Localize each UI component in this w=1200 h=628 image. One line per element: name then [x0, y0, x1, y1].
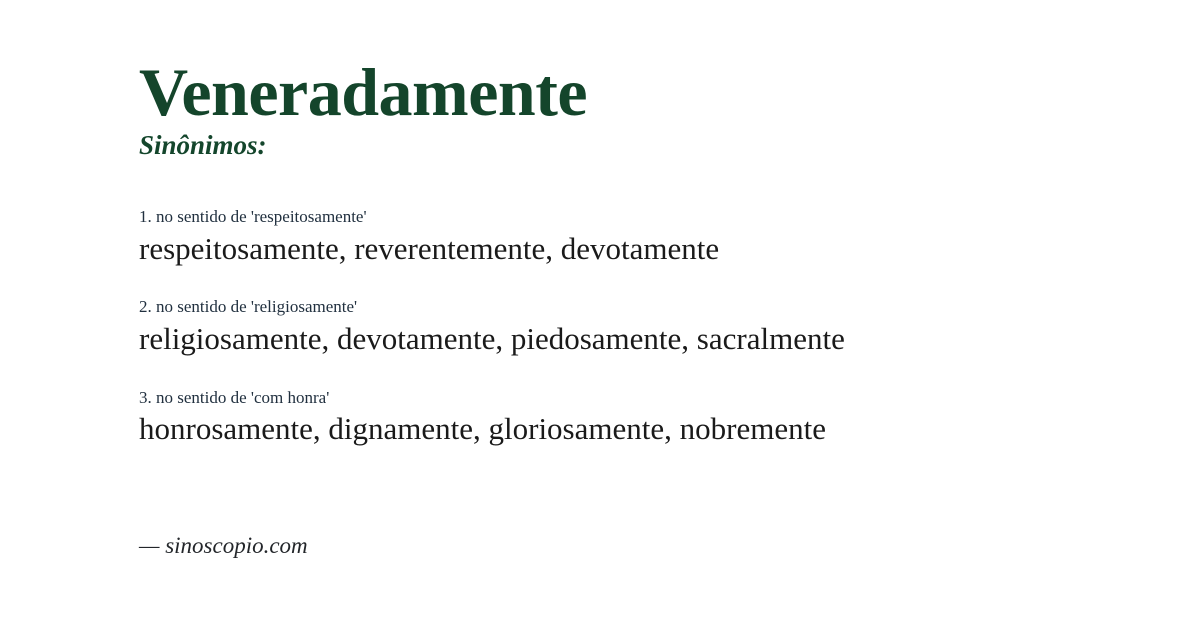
- sense-label: 3. no sentido de 'com honra': [139, 388, 1170, 408]
- sense-synonyms: honrosamente, dignamente, gloriosamente,…: [139, 410, 1170, 448]
- card-header: Veneradamente Sinônimos:: [139, 58, 1160, 159]
- synonyms-subtitle: Sinônimos:: [139, 132, 1160, 159]
- card-footer: — sinoscopio.com: [139, 533, 308, 558]
- synonym-card: Veneradamente Sinônimos: 1. no sentido d…: [0, 0, 1200, 628]
- sense-block: 2. no sentido de 'religiosamente' religi…: [139, 297, 1170, 357]
- page-title: Veneradamente: [139, 58, 1160, 126]
- source-attribution: — sinoscopio.com: [139, 533, 308, 558]
- sense-synonyms: religiosamente, devotamente, piedosament…: [139, 320, 1170, 358]
- sense-label: 1. no sentido de 'respeitosamente': [139, 207, 1170, 227]
- sense-list: 1. no sentido de 'respeitosamente' respe…: [139, 207, 1170, 448]
- sense-synonyms: respeitosamente, reverentemente, devotam…: [139, 230, 1170, 268]
- sense-block: 3. no sentido de 'com honra' honrosament…: [139, 388, 1170, 448]
- sense-block: 1. no sentido de 'respeitosamente' respe…: [139, 207, 1170, 267]
- sense-label: 2. no sentido de 'religiosamente': [139, 297, 1170, 317]
